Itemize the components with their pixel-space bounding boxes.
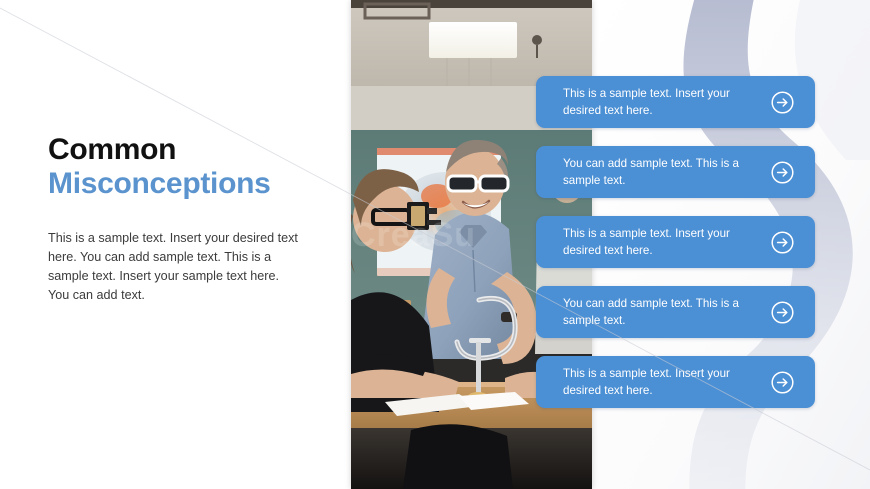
page-title: Common Misconceptions [48, 133, 338, 200]
title-line-accent: Misconceptions [48, 167, 338, 201]
slide-canvas: Common Misconceptions This is a sample t… [0, 0, 870, 489]
card-text: This is a sample text. Insert your desir… [563, 85, 770, 119]
list-item[interactable]: This is a sample text. Insert your desir… [536, 76, 815, 128]
arrow-right-circle-icon[interactable] [770, 300, 795, 325]
card-text: This is a sample text. Insert your desir… [563, 365, 770, 399]
card-text: You can add sample text. This is a sampl… [563, 155, 770, 189]
card-text: This is a sample text. Insert your desir… [563, 225, 770, 259]
title-line-primary: Common [48, 133, 338, 167]
card-list: This is a sample text. Insert your desir… [536, 76, 815, 408]
list-item[interactable]: This is a sample text. Insert your desir… [536, 216, 815, 268]
body-paragraph: This is a sample text. Insert your desir… [48, 229, 300, 306]
list-item[interactable]: You can add sample text. This is a sampl… [536, 146, 815, 198]
list-item[interactable]: You can add sample text. This is a sampl… [536, 286, 815, 338]
arrow-right-circle-icon[interactable] [770, 230, 795, 255]
text-panel: Common Misconceptions This is a sample t… [0, 0, 351, 489]
arrow-right-circle-icon[interactable] [770, 370, 795, 395]
card-text: You can add sample text. This is a sampl… [563, 295, 770, 329]
list-item[interactable]: This is a sample text. Insert your desir… [536, 356, 815, 408]
arrow-right-circle-icon[interactable] [770, 90, 795, 115]
arrow-right-circle-icon[interactable] [770, 160, 795, 185]
